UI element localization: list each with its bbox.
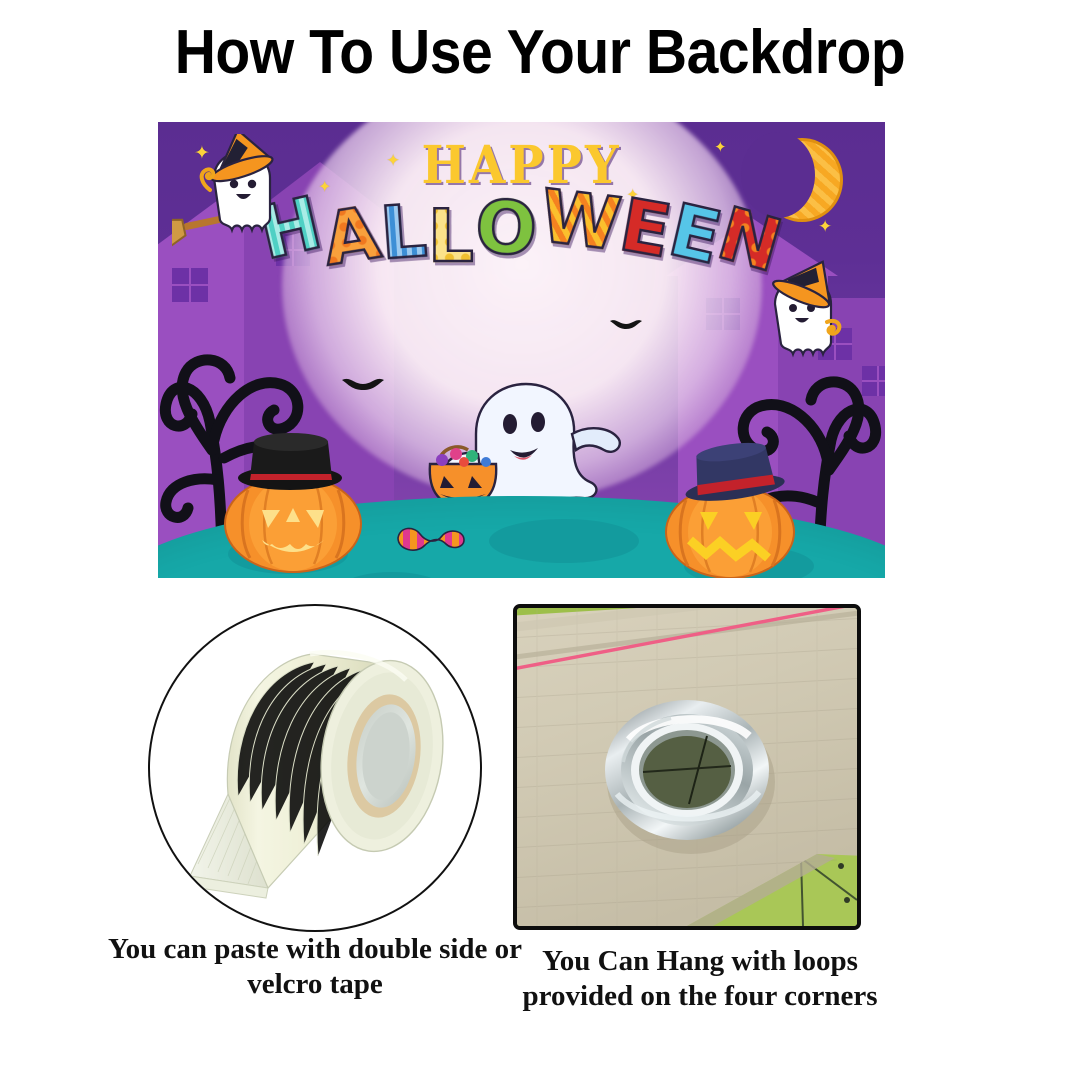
infographic-page: How To Use Your Backdrop ✦ ✦ ✦ [0,0,1080,1080]
ghost-with-witch-hat-icon [751,256,859,371]
halloween-letter: L [428,204,474,269]
jack-o-lantern-black-hat-icon [218,428,368,578]
halloween-letter: A [318,200,383,273]
grommet-caption: You Can Hang with loops provided on the … [500,944,900,1015]
bat-icon [608,316,644,337]
tape-photo-circle [148,604,482,932]
tape-caption: You can paste with double side or velcro… [90,932,540,1003]
halloween-letter: O [474,194,539,262]
filament-tape-roll-icon [150,606,480,930]
halloween-letter: W [537,183,624,257]
halloween-letter: L [378,198,428,266]
bat-icon [340,374,386,399]
candy-worm-icon [390,522,470,557]
grommet-photo-box [513,604,861,930]
star-icon: ✦ [818,218,832,235]
ghost-on-broom-icon [172,134,300,259]
jack-o-lantern-navy-hat-icon [658,440,808,578]
page-title: How To Use Your Backdrop [43,20,1037,85]
metal-grommet-icon [517,608,857,926]
halloween-wordmark: H A L L O W E E N [260,198,783,263]
halloween-backdrop-image: ✦ ✦ ✦ ✦ ✦ ✦ [158,122,885,578]
